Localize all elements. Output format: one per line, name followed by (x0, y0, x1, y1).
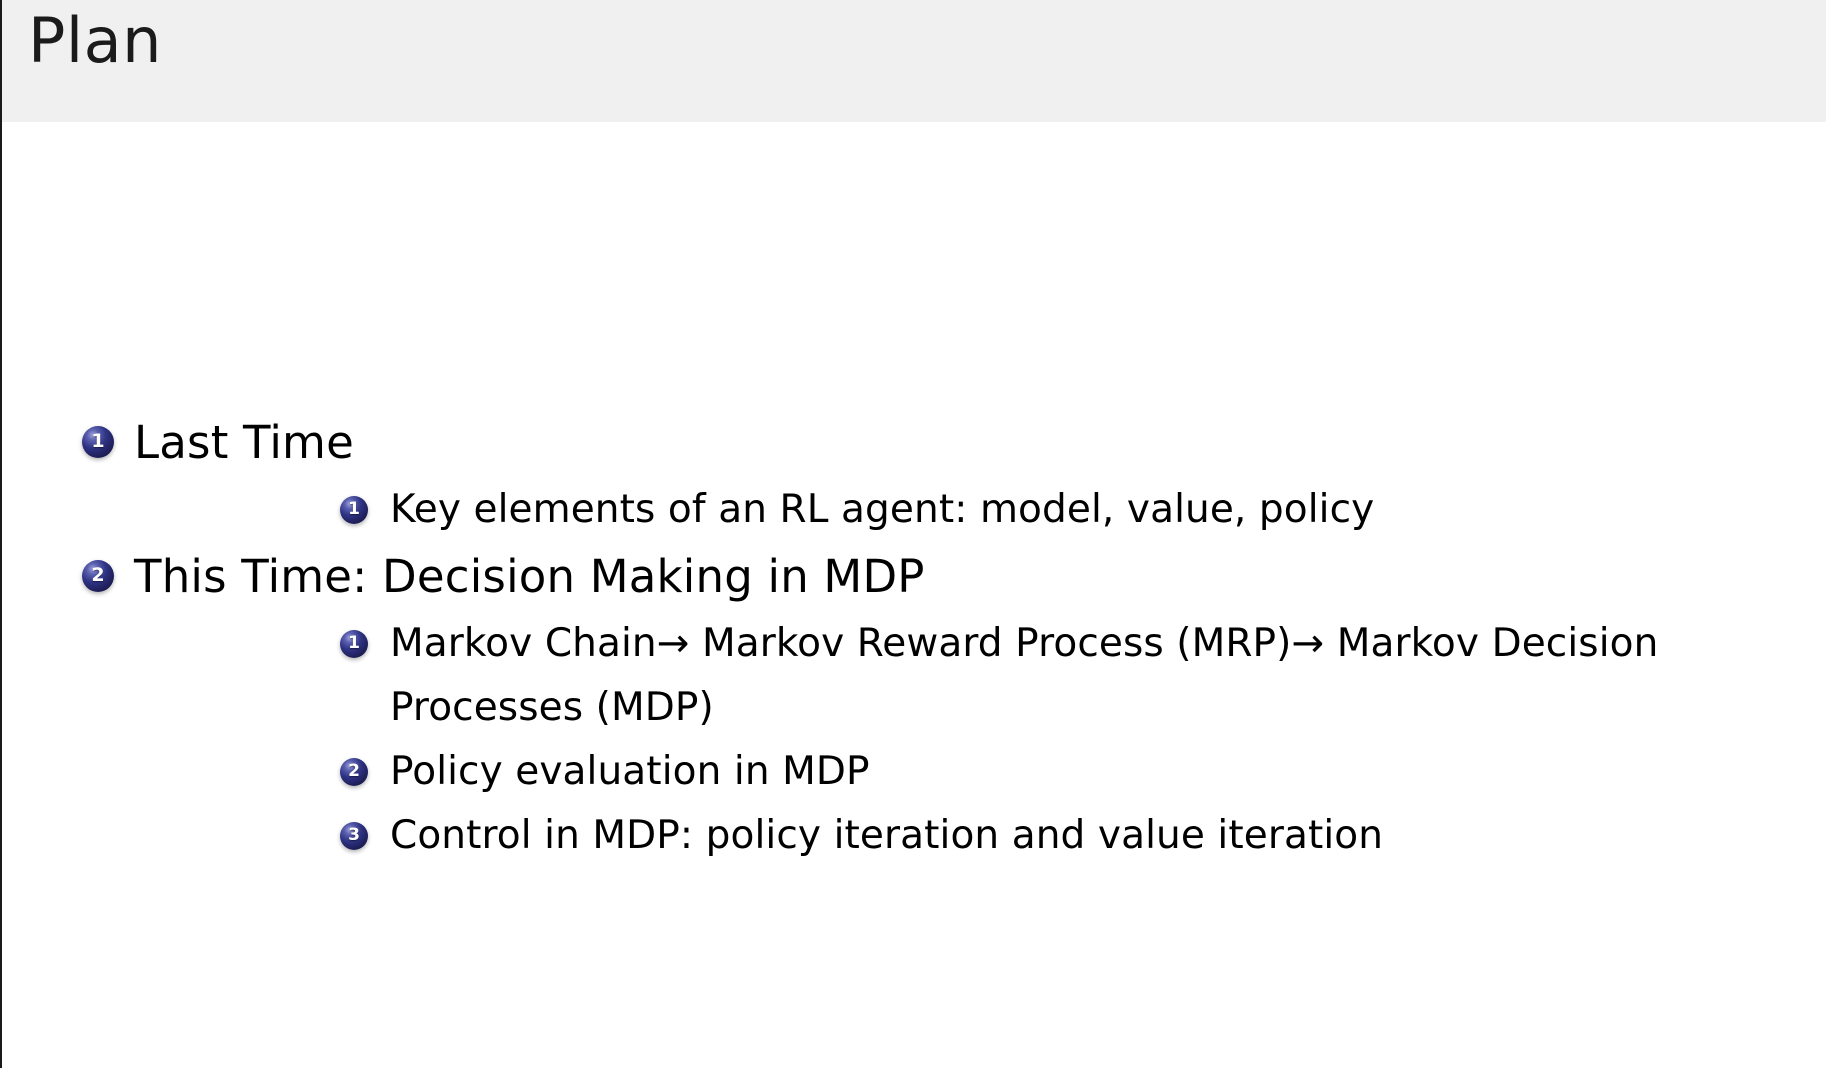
list-item-label: This Time: Decision Making in MDP (134, 544, 1826, 610)
list-item[interactable]: 1 Key elements of an RL agent: model, va… (258, 478, 1826, 542)
list-item-label: Control in MDP: policy iteration and val… (390, 804, 1826, 868)
list-item[interactable]: 2 This Time: Decision Making in MDP 1 Ma… (2, 544, 1826, 868)
enumerate-ball-icon: 3 (340, 822, 368, 850)
bullet-number: 1 (340, 495, 368, 523)
slide-left-edge-rule (0, 0, 2, 1068)
enumerate-ball-icon: 1 (340, 496, 368, 524)
list-item-label: Markov Chain→ Markov Reward Process (MRP… (390, 612, 1826, 740)
enumerate-ball-icon: 1 (82, 426, 114, 458)
enumerate-ball-icon: 2 (340, 758, 368, 786)
bullet-number: 3 (340, 821, 368, 849)
enumerate-ball-icon: 1 (340, 630, 368, 658)
bullet-number: 1 (82, 425, 114, 457)
enumerate-ball-icon: 2 (82, 560, 114, 592)
list-item-label: Last Time (134, 410, 1826, 476)
outline-level2: 1 Markov Chain→ Markov Reward Process (M… (134, 612, 1826, 868)
list-item-label: Policy evaluation in MDP (390, 740, 1826, 804)
list-item[interactable]: 1 Markov Chain→ Markov Reward Process (M… (258, 612, 1826, 740)
list-item[interactable]: 2 Policy evaluation in MDP (258, 740, 1826, 804)
outline-level2: 1 Key elements of an RL agent: model, va… (134, 478, 1826, 542)
slide-title-bar: Plan (2, 0, 1826, 122)
outline-list: 1 Last Time 1 Key elements of an RL agen… (2, 410, 1826, 870)
list-item[interactable]: 3 Control in MDP: policy iteration and v… (258, 804, 1826, 868)
outline-level1: 1 Last Time 1 Key elements of an RL agen… (2, 410, 1826, 868)
bullet-number: 2 (82, 559, 114, 591)
bullet-number: 2 (340, 757, 368, 785)
list-item[interactable]: 1 Last Time 1 Key elements of an RL agen… (2, 410, 1826, 542)
page-title: Plan (28, 8, 162, 75)
bullet-number: 1 (340, 629, 368, 657)
list-item-label: Key elements of an RL agent: model, valu… (390, 478, 1826, 542)
slide-body: 1 Last Time 1 Key elements of an RL agen… (2, 122, 1826, 1068)
